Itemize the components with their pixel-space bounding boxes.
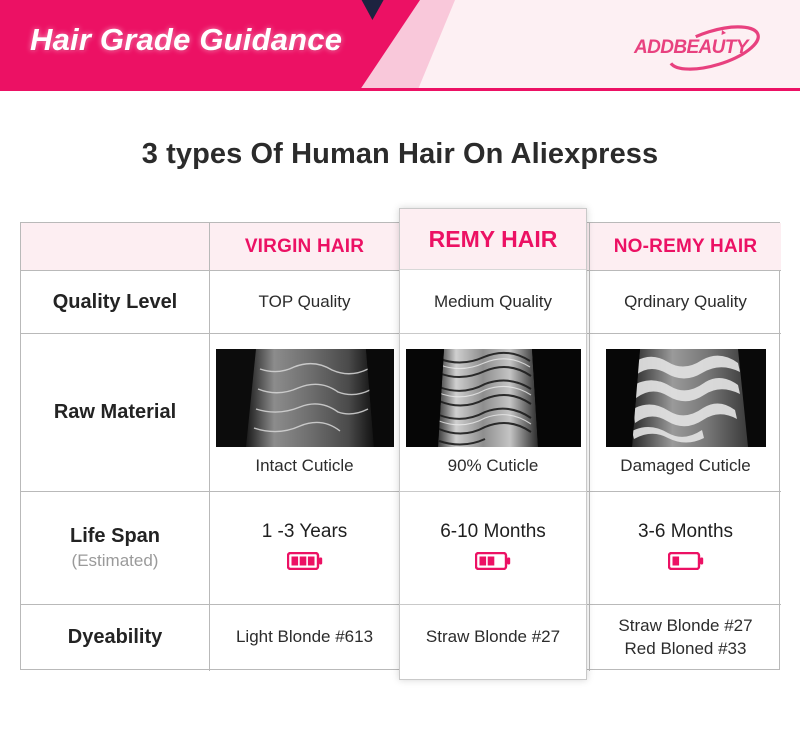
page-title: 3 types Of Human Hair On Aliexpress bbox=[0, 138, 800, 171]
sem-damaged-cuticle-icon bbox=[606, 349, 766, 447]
cell-lifespan-virgin: 1 -3 Years bbox=[210, 492, 399, 604]
cell-value: Light Blonde #613 bbox=[236, 626, 373, 649]
row-label-dyeability: Dyeability bbox=[21, 605, 209, 670]
sem-90-percent-cuticle-icon bbox=[406, 349, 581, 447]
cell-caption: Damaged Cuticle bbox=[620, 456, 750, 476]
cell-material-remy: 90% Cuticle bbox=[400, 334, 586, 491]
column-header-no-remy-hair: NO-REMY HAIR bbox=[590, 223, 781, 270]
header-banner: Hair Grade Guidance ADDBEAUTY bbox=[0, 0, 800, 88]
row-label-text: Quality Level bbox=[53, 291, 178, 314]
cell-value: 1 -3 Years bbox=[262, 521, 348, 543]
sem-intact-cuticle-icon bbox=[216, 349, 394, 447]
cell-value: TOP Quality bbox=[259, 292, 351, 312]
cell-value: 3-6 Months bbox=[638, 521, 733, 543]
banner-notch-icon bbox=[358, 0, 383, 20]
row-label-raw-material: Raw Material bbox=[21, 334, 209, 491]
cell-value: Medium Quality bbox=[434, 292, 552, 312]
battery-medium-icon bbox=[475, 552, 511, 575]
cell-value: 6-10 Months bbox=[440, 521, 546, 543]
cell-dyeability-no-remy: Straw Blonde #27 Red Bloned #33 bbox=[590, 605, 781, 670]
cell-value: Straw Blonde #27 bbox=[426, 626, 560, 649]
column-header-label: NO-REMY HAIR bbox=[614, 236, 758, 258]
cell-quality-remy: Medium Quality bbox=[400, 271, 586, 333]
battery-low-icon bbox=[668, 552, 704, 575]
column-header-label: REMY HAIR bbox=[429, 226, 558, 253]
banner-title: Hair Grade Guidance bbox=[30, 22, 342, 58]
cell-quality-no-remy: Qrdinary Quality bbox=[590, 271, 781, 333]
hair-grade-guidance-infographic: Hair Grade Guidance ADDBEAUTY 3 types Of… bbox=[0, 0, 800, 736]
cell-material-no-remy: Damaged Cuticle bbox=[590, 334, 781, 491]
battery-full-icon bbox=[287, 552, 323, 575]
cell-dyeability-virgin: Light Blonde #613 bbox=[210, 605, 399, 670]
column-header-label: VIRGIN HAIR bbox=[245, 236, 364, 258]
cell-caption: 90% Cuticle bbox=[448, 456, 539, 476]
highlighted-column-remy-hair: REMY HAIR Medium Quality bbox=[399, 208, 587, 680]
header-rule bbox=[0, 88, 800, 91]
cell-caption: Intact Cuticle bbox=[255, 456, 353, 476]
row-label-text: Raw Material bbox=[54, 401, 176, 424]
row-label-text: Dyeability bbox=[68, 626, 162, 649]
row-label-quality-level: Quality Level bbox=[21, 271, 209, 333]
cell-value-line2: Red Bloned #33 bbox=[625, 638, 747, 661]
row-label-text: Life Span bbox=[70, 525, 160, 548]
cell-dyeability-remy: Straw Blonde #27 bbox=[400, 605, 586, 670]
logo-wordmark: ADDBEAUTY bbox=[634, 37, 748, 59]
column-header-virgin-hair: VIRGIN HAIR bbox=[210, 223, 399, 270]
cell-lifespan-remy: 6-10 Months bbox=[400, 492, 586, 604]
cell-quality-virgin: TOP Quality bbox=[210, 271, 399, 333]
row-label-life-span: Life Span (Estimated) bbox=[21, 492, 209, 604]
addbeauty-logo: ADDBEAUTY bbox=[630, 24, 782, 72]
row-sublabel-text: (Estimated) bbox=[72, 551, 159, 571]
cell-lifespan-no-remy: 3-6 Months bbox=[590, 492, 781, 604]
column-header-remy-hair: REMY HAIR bbox=[400, 209, 586, 270]
cell-value: Qrdinary Quality bbox=[624, 292, 747, 312]
cell-value: Straw Blonde #27 bbox=[618, 615, 752, 638]
cell-material-virgin: Intact Cuticle bbox=[210, 334, 399, 491]
